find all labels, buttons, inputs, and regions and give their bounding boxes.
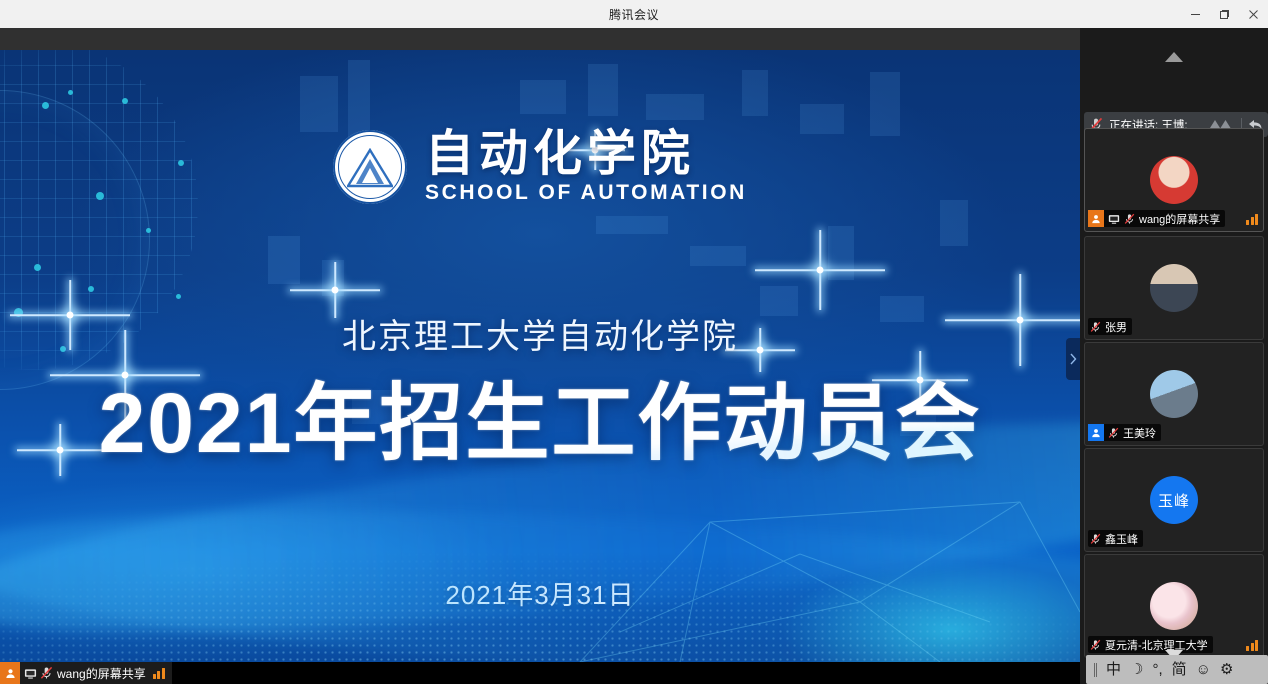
shared-screen-top-band — [0, 28, 1080, 50]
window-title: 腾讯会议 — [609, 6, 659, 23]
participant-nameplate: 王美玲 — [1088, 424, 1161, 441]
network-lines-decoration — [560, 462, 1080, 662]
decor-square — [596, 216, 668, 234]
participant-name: 鑫玉峰 — [1105, 531, 1138, 547]
school-emblem-icon — [333, 130, 407, 204]
avatar — [1150, 582, 1198, 630]
participant-name: 王美玲 — [1123, 425, 1156, 441]
person-icon-blue — [1088, 424, 1104, 441]
mic-muted-icon — [1106, 427, 1121, 439]
decor-square — [742, 70, 768, 116]
school-logo-en: SCHOOL OF AUTOMATION — [425, 181, 747, 205]
signal-bars-icon — [1246, 214, 1258, 225]
decor-dot — [146, 228, 151, 233]
ime-grip[interactable] — [1094, 663, 1097, 677]
avatar-initials: 玉峰 — [1150, 476, 1198, 524]
scroll-up-button[interactable] — [1080, 42, 1268, 72]
avatar — [1150, 156, 1198, 204]
participant-nameplate: 鑫玉峰 — [1088, 530, 1143, 547]
ime-emoji[interactable]: ☺ — [1196, 662, 1211, 677]
participant-name: wang的屏幕共享 — [1139, 211, 1220, 227]
decor-dot — [176, 294, 181, 299]
decor-square — [300, 76, 338, 132]
share-icons — [20, 666, 57, 680]
ime-toolbar: 中 ☽ °, 简 ☺ ⚙ — [1086, 655, 1268, 684]
signal-bars-icon — [153, 668, 165, 679]
host-person-icon — [1088, 210, 1104, 227]
screen-share-icon — [1106, 213, 1122, 225]
avatar — [1150, 264, 1198, 312]
ime-language-toggle[interactable]: 中 — [1106, 662, 1121, 677]
decor-square — [940, 200, 968, 246]
decor-dot — [34, 264, 41, 271]
slide-subtitle: 北京理工大学自动化学院 — [0, 309, 1080, 358]
decor-square — [268, 236, 300, 284]
participant-tile[interactable]: 玉峰 鑫玉峰 — [1084, 448, 1264, 552]
decor-square — [520, 80, 566, 114]
window-title-bar: 腾讯会议 — [0, 0, 1268, 28]
decor-square — [322, 260, 344, 296]
decor-square — [646, 94, 704, 120]
participant-tile[interactable]: wang的屏幕共享 — [1084, 128, 1264, 232]
participant-nameplate: wang的屏幕共享 — [1088, 210, 1225, 227]
screen-share-label: wang的屏幕共享 — [57, 665, 146, 682]
ime-simplified-toggle[interactable]: 简 — [1172, 662, 1187, 677]
participant-tile[interactable]: 王美玲 — [1084, 342, 1264, 446]
screen-share-icon — [24, 667, 37, 680]
participant-tile[interactable]: 张男 — [1084, 236, 1264, 340]
participant-name: 张男 — [1105, 319, 1127, 335]
decor-dot — [122, 98, 128, 104]
school-logo-cn: 自动化学院 — [425, 128, 695, 179]
mic-muted-icon — [1088, 321, 1103, 333]
ime-mode-moon[interactable]: ☽ — [1130, 662, 1143, 677]
school-logo: 自动化学院 SCHOOL OF AUTOMATION — [0, 128, 1080, 205]
avatar — [1150, 370, 1198, 418]
mic-muted-icon — [40, 666, 53, 680]
host-person-icon — [0, 662, 20, 684]
minimize-button[interactable] — [1181, 0, 1210, 28]
decor-dot — [42, 102, 49, 109]
window-controls — [1181, 0, 1268, 28]
decor-dot — [88, 286, 94, 292]
decor-square — [870, 72, 900, 136]
participant-nameplate: 张男 — [1088, 318, 1132, 335]
collapse-panel-handle[interactable] — [1066, 338, 1080, 380]
mic-muted-icon — [1088, 533, 1103, 545]
close-button[interactable] — [1239, 0, 1268, 28]
ime-punctuation[interactable]: °, — [1152, 662, 1162, 677]
ime-settings[interactable]: ⚙ — [1220, 662, 1233, 677]
mic-muted-icon — [1122, 213, 1137, 225]
presentation-slide: 自动化学院 SCHOOL OF AUTOMATION 北京理工大学自动化学院 2… — [0, 50, 1080, 662]
decor-square — [690, 246, 746, 266]
decor-dot — [68, 90, 73, 95]
decor-square — [828, 226, 854, 280]
decor-square — [588, 64, 618, 116]
shared-screen-stage: 自动化学院 SCHOOL OF AUTOMATION 北京理工大学自动化学院 2… — [0, 28, 1080, 684]
maximize-button[interactable] — [1210, 0, 1239, 28]
participants-panel: 正在讲话: 王博; wang的屏幕共享 — [1080, 28, 1268, 684]
screen-share-status-bar: wang的屏幕共享 — [0, 662, 172, 684]
